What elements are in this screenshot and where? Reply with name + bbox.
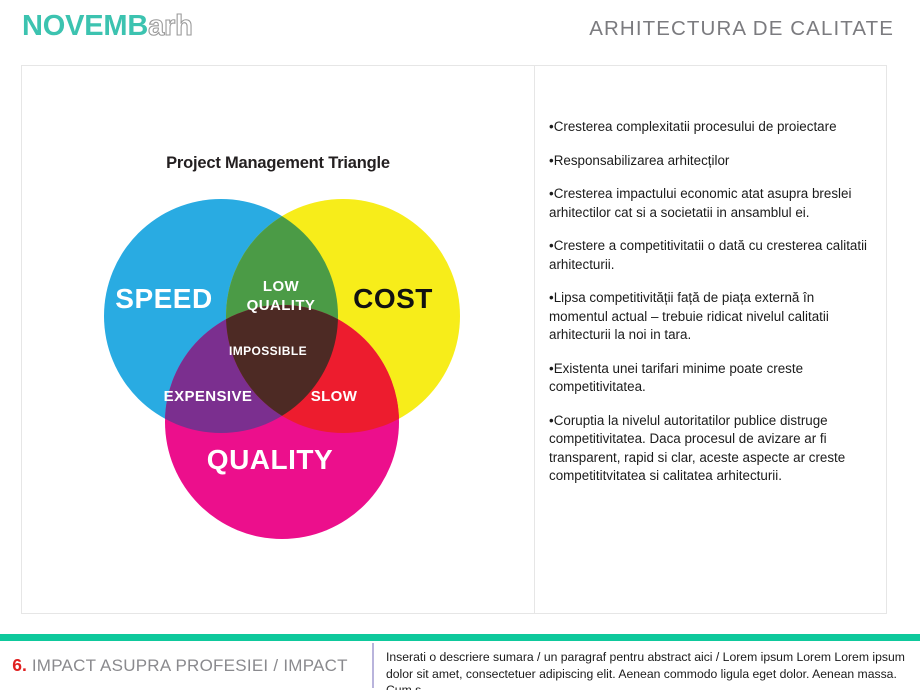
list-item-text: Existenta unei tarifari minime poate cre… (549, 361, 803, 395)
footer-section-label: 6. IMPACT ASUPRA PROFESIEI / IMPACT (0, 641, 372, 690)
list-item: •Cresterea impactului economic atat asup… (549, 185, 868, 222)
venn-label-low-quality-line2: QUALITY (247, 297, 316, 314)
list-item-text: Crestere a competitivitatii o dată cu cr… (549, 238, 867, 272)
slide-footer: 6. IMPACT ASUPRA PROFESIEI / IMPACT Inse… (0, 641, 920, 690)
list-item: •Lipsa competitivității față de piața ex… (549, 289, 868, 345)
list-item: •Existenta unei tarifari minime poate cr… (549, 360, 868, 397)
list-item: •Cresterea complexitatii procesului de p… (549, 118, 868, 137)
bullets-panel: •Cresterea complexitatii procesului de p… (535, 66, 886, 613)
list-item-text: Cresterea impactului economic atat asupr… (549, 186, 851, 220)
list-item-text: Responsabilizarea arhitecților (554, 153, 730, 168)
slide-header: NOVEMBarh ARHITECTURA DE CALITATE (0, 0, 920, 62)
venn-label-impossible: IMPOSSIBLE (229, 344, 307, 358)
footer-blurb-panel: Inserati o descriere sumara / un paragra… (372, 643, 920, 688)
venn-label-low-quality-line1: LOW (263, 278, 300, 295)
project-management-triangle-venn: SPEED COST QUALITY LOW QUALITY EXPENSIVE… (88, 186, 468, 546)
venn-panel: Project Management Triangle (22, 66, 535, 613)
venn-label-speed: SPEED (115, 283, 212, 314)
venn-label-slow: SLOW (311, 388, 358, 405)
footer-section-title: IMPACT ASUPRA PROFESIEI / IMPACT (32, 656, 348, 676)
list-item-text: Cresterea complexitatii procesului de pr… (554, 119, 837, 134)
content-card: Project Management Triangle (21, 65, 887, 614)
brand-logo-outline: arh (148, 10, 193, 42)
venn-label-quality: QUALITY (207, 444, 333, 475)
footer-section-number: 6. (12, 655, 27, 676)
brand-logo[interactable]: NOVEMBarh (22, 9, 193, 43)
list-item: •Responsabilizarea arhitecților (549, 152, 868, 171)
list-item-text: Lipsa competitivității față de piața ext… (549, 290, 829, 342)
brand-logo-solid: NOVEMB (22, 10, 148, 42)
slide: NOVEMBarh ARHITECTURA DE CALITATE Projec… (0, 0, 920, 690)
page-title: ARHITECTURA DE CALITATE (589, 17, 894, 41)
footer-blurb: Inserati o descriere sumara / un paragra… (386, 649, 906, 690)
venn-label-expensive: EXPENSIVE (164, 388, 253, 405)
list-item: •Coruptia la nivelul autoritatilor publi… (549, 412, 868, 486)
list-item-text: Coruptia la nivelul autoritatilor public… (549, 413, 845, 484)
venn-title: Project Management Triangle (22, 154, 534, 173)
bullet-list: •Cresterea complexitatii procesului de p… (549, 118, 868, 486)
footer-accent-rule (0, 634, 920, 641)
list-item: •Crestere a competitivitatii o dată cu c… (549, 237, 868, 274)
venn-label-cost: COST (353, 283, 433, 314)
